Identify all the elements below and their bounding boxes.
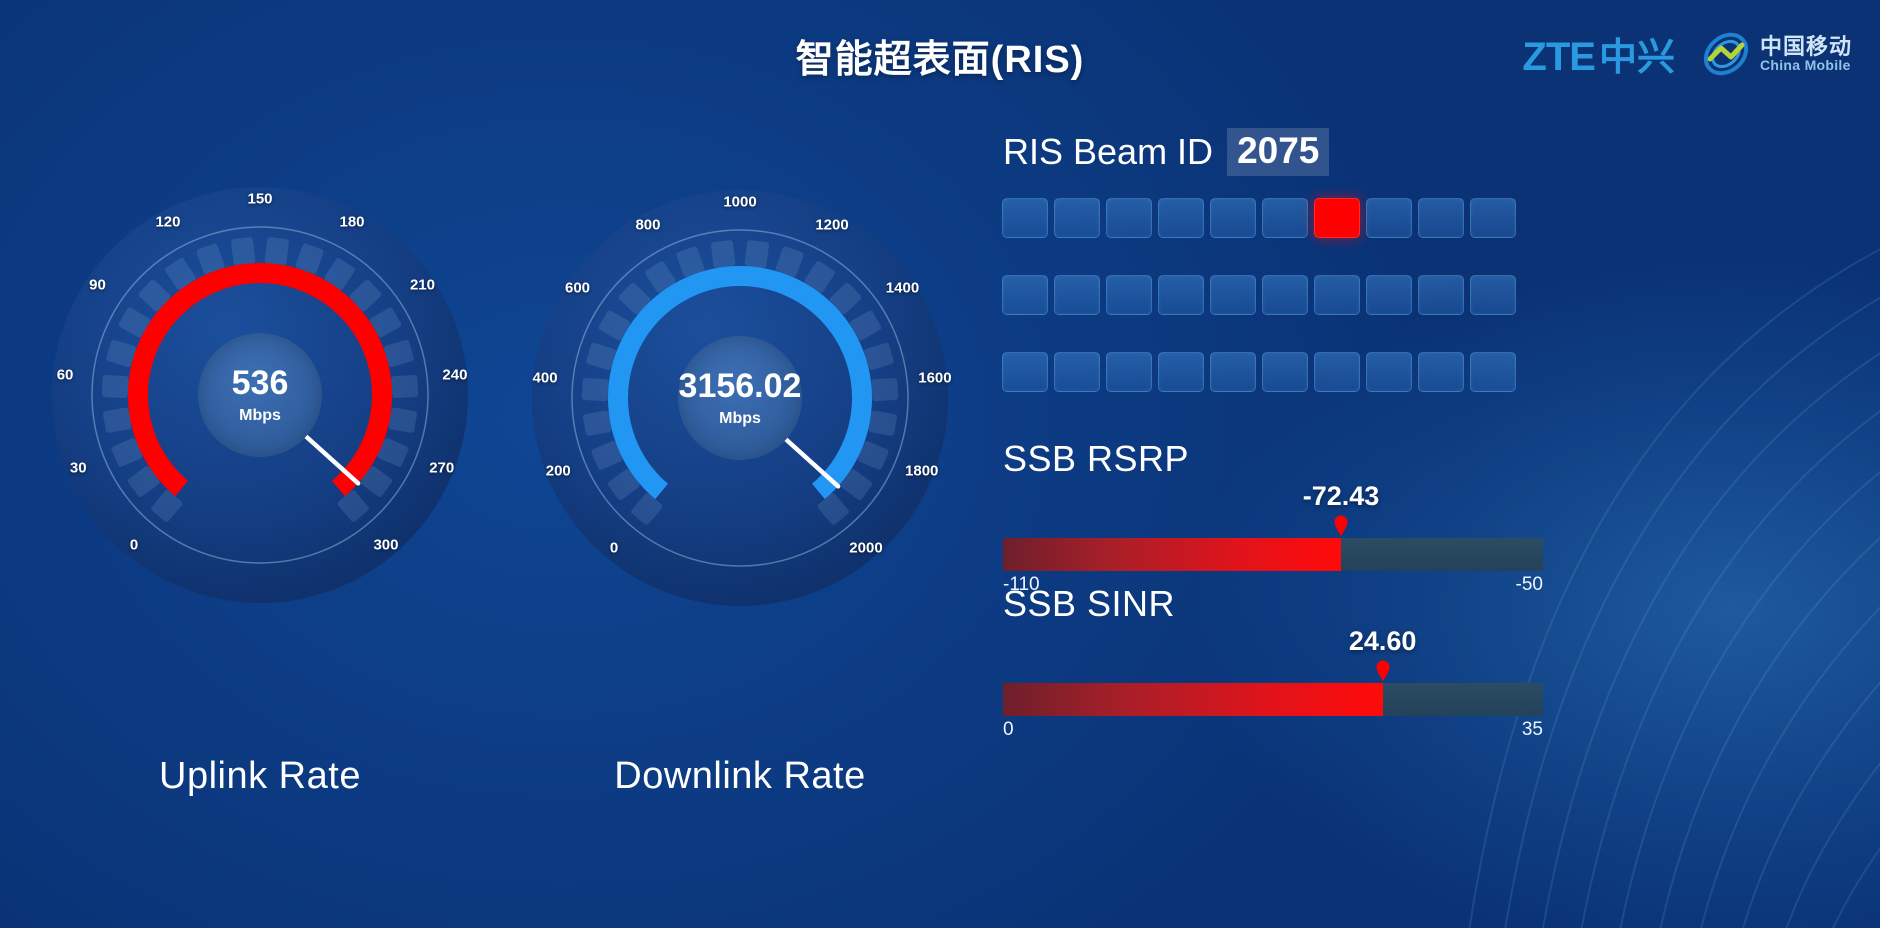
ssb-sinr-min-label: 0 bbox=[1003, 719, 1014, 741]
gauge-tick-block bbox=[582, 410, 611, 436]
beam-cell[interactable] bbox=[1418, 275, 1464, 315]
gauge-tick-label: 800 bbox=[635, 216, 660, 233]
beam-cell[interactable] bbox=[1002, 198, 1048, 238]
beam-cell[interactable] bbox=[1470, 275, 1516, 315]
gauge-tick-label: 1800 bbox=[905, 463, 938, 480]
beam-cell[interactable] bbox=[1210, 198, 1256, 238]
gauge-tick-label: 180 bbox=[340, 213, 365, 230]
beam-cell[interactable] bbox=[1210, 352, 1256, 392]
beam-grid-row bbox=[1002, 198, 1532, 238]
ssb-sinr-marker-icon bbox=[1375, 660, 1390, 681]
gauge-center-unit: Mbps bbox=[719, 410, 761, 428]
gauge-tick-label: 1000 bbox=[723, 194, 756, 211]
ssb-sinr-metric: SSB SINR 24.60 0 35 bbox=[1003, 583, 1543, 716]
downlink-rate-gauge: 3156.02Mbps02004006008001000120014001600… bbox=[520, 178, 960, 618]
china-mobile-cn: 中国移动 bbox=[1760, 35, 1852, 58]
beam-cell[interactable] bbox=[1470, 352, 1516, 392]
gauge-tick-block bbox=[711, 240, 736, 268]
beam-cell[interactable] bbox=[1314, 275, 1360, 315]
beam-cell[interactable] bbox=[1366, 198, 1412, 238]
logo-group: ZTE 中兴 中国移动 China Mobile bbox=[1522, 26, 1852, 81]
beam-cell[interactable] bbox=[1210, 275, 1256, 315]
ssb-rsrp-label: SSB RSRP bbox=[1003, 438, 1543, 480]
gauge-tick-block bbox=[868, 410, 897, 436]
ssb-rsrp-bar-wrap: -72.43 -110 -50 bbox=[1003, 538, 1543, 571]
uplink-rate-label: Uplink Rate bbox=[40, 755, 480, 798]
ris-beam-grid[interactable] bbox=[1002, 198, 1532, 429]
ris-beam-id: RIS Beam ID 2075 bbox=[1003, 128, 1329, 176]
downlink-rate-label: Downlink Rate bbox=[520, 755, 960, 798]
beam-cell[interactable] bbox=[1470, 198, 1516, 238]
ris-beam-id-label: RIS Beam ID bbox=[1003, 131, 1213, 173]
beam-cell[interactable] bbox=[1314, 352, 1360, 392]
gauge-tick-label: 120 bbox=[155, 213, 180, 230]
gauge-tick-label: 210 bbox=[410, 277, 435, 294]
gauge-tick-label: 2000 bbox=[849, 540, 882, 557]
beam-cell[interactable] bbox=[1002, 275, 1048, 315]
gauge-tick-block bbox=[391, 375, 418, 398]
beam-cell[interactable] bbox=[1366, 275, 1412, 315]
beam-cell[interactable] bbox=[1158, 352, 1204, 392]
beam-cell[interactable] bbox=[1366, 352, 1412, 392]
beam-cell[interactable] bbox=[1262, 275, 1308, 315]
ssb-rsrp-metric: SSB RSRP -72.43 -110 -50 bbox=[1003, 438, 1543, 571]
gauge-tick-label: 150 bbox=[247, 191, 272, 208]
beam-cell[interactable] bbox=[1262, 352, 1308, 392]
gauge-tick-label: 30 bbox=[70, 460, 87, 477]
gauge-tick-label: 0 bbox=[610, 540, 618, 557]
beam-cell[interactable] bbox=[1158, 275, 1204, 315]
ssb-rsrp-marker-icon bbox=[1334, 515, 1349, 536]
gauge-center-unit: Mbps bbox=[239, 407, 281, 425]
ssb-sinr-bar[interactable] bbox=[1003, 683, 1543, 716]
gauge-tick-label: 270 bbox=[429, 460, 454, 477]
beam-cell[interactable] bbox=[1106, 352, 1152, 392]
zte-logo-cn: 中兴 bbox=[1599, 26, 1675, 81]
gauge-tick-label: 300 bbox=[373, 537, 398, 554]
gauge-center-disc: 536Mbps bbox=[198, 333, 322, 457]
beam-grid-row bbox=[1002, 352, 1532, 392]
gauge-tick-block bbox=[582, 378, 609, 401]
gauge-center-value: 536 bbox=[232, 366, 289, 400]
beam-cell[interactable] bbox=[1262, 198, 1308, 238]
uplink-rate-gauge: 536Mbps0306090120150180210240270300 bbox=[40, 175, 480, 615]
gauge-tick-label: 90 bbox=[89, 277, 106, 294]
gauge-tick-block bbox=[264, 237, 289, 265]
gauge-center-disc: 3156.02Mbps bbox=[678, 336, 802, 460]
gauge-tick-block bbox=[871, 378, 898, 401]
ssb-sinr-bar-fill bbox=[1003, 683, 1383, 716]
gauge-tick-block bbox=[231, 237, 256, 265]
beam-cell-active[interactable] bbox=[1314, 198, 1360, 238]
beam-cell[interactable] bbox=[1002, 352, 1048, 392]
gauge-tick-label: 240 bbox=[442, 366, 467, 383]
gauge-tick-label: 0 bbox=[130, 537, 138, 554]
gauge-tick-label: 400 bbox=[533, 369, 558, 386]
ssb-rsrp-value: -72.43 bbox=[1303, 481, 1380, 512]
zte-logo: ZTE 中兴 bbox=[1522, 26, 1675, 81]
gauge-tick-label: 1200 bbox=[815, 216, 848, 233]
gauge-tick-label: 200 bbox=[546, 463, 571, 480]
ssb-sinr-max-label: 35 bbox=[1522, 719, 1543, 741]
gauge-center-value: 3156.02 bbox=[679, 369, 802, 403]
beam-cell[interactable] bbox=[1106, 275, 1152, 315]
gauge-tick-block bbox=[102, 407, 131, 433]
china-mobile-wordmark: 中国移动 China Mobile bbox=[1760, 35, 1852, 73]
gauge-tick-label: 600 bbox=[565, 280, 590, 297]
ris-beam-id-value: 2075 bbox=[1227, 128, 1329, 176]
ssb-sinr-bar-wrap: 24.60 0 35 bbox=[1003, 683, 1543, 716]
gauge-tick-label: 1600 bbox=[918, 369, 951, 386]
beam-cell[interactable] bbox=[1054, 352, 1100, 392]
beam-cell[interactable] bbox=[1158, 198, 1204, 238]
beam-cell[interactable] bbox=[1418, 198, 1464, 238]
beam-cell[interactable] bbox=[1418, 352, 1464, 392]
beam-cell[interactable] bbox=[1054, 198, 1100, 238]
gauge-tick-label: 60 bbox=[57, 366, 74, 383]
gauge-tick-block bbox=[744, 240, 769, 268]
zte-logo-en: ZTE bbox=[1522, 35, 1595, 80]
china-mobile-logo: 中国移动 China Mobile bbox=[1701, 29, 1852, 79]
gauge-tick-block bbox=[102, 375, 129, 398]
china-mobile-mark-icon bbox=[1701, 29, 1751, 79]
ssb-rsrp-bar-fill bbox=[1003, 538, 1341, 571]
beam-cell[interactable] bbox=[1054, 275, 1100, 315]
gauge-tick-label: 1400 bbox=[886, 280, 919, 297]
ssb-rsrp-bar[interactable] bbox=[1003, 538, 1543, 571]
gauge-tick-block bbox=[388, 407, 417, 433]
china-mobile-en: China Mobile bbox=[1760, 58, 1852, 73]
beam-grid-row bbox=[1002, 275, 1532, 315]
dashboard-root: 智能超表面(RIS) ZTE 中兴 中国移动 China Mobile 536M… bbox=[0, 0, 1880, 928]
beam-cell[interactable] bbox=[1106, 198, 1152, 238]
ssb-sinr-label: SSB SINR bbox=[1003, 583, 1543, 625]
ssb-sinr-value: 24.60 bbox=[1349, 626, 1417, 657]
